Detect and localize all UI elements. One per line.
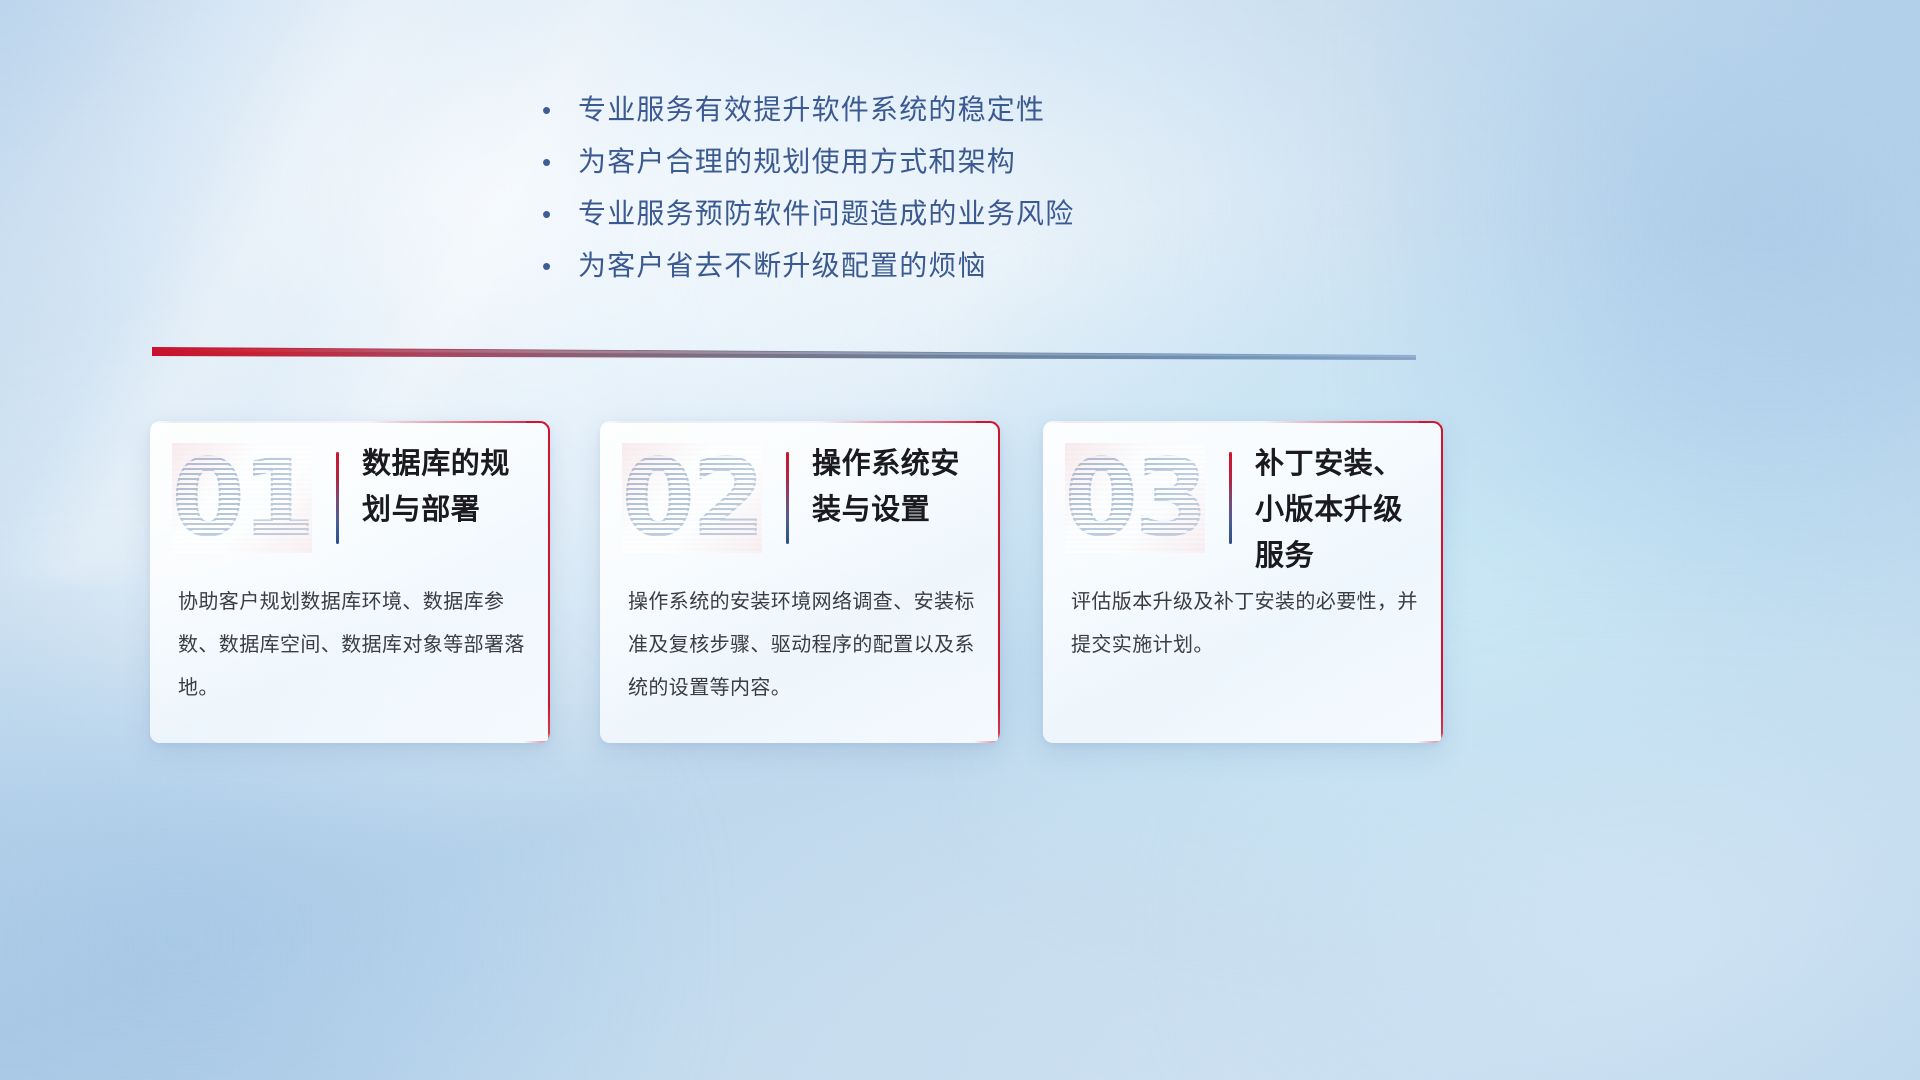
bullet-item: • 为客户合理的规划使用方式和架构 xyxy=(536,140,1296,192)
card-accent-top xyxy=(150,421,550,423)
card-accent-top xyxy=(600,421,1000,423)
card-title-divider-bar xyxy=(336,452,339,544)
benefits-bullet-list: • 专业服务有效提升软件系统的稳定性 • 为客户合理的规划使用方式和架构 • 专… xyxy=(536,88,1296,296)
card-title-divider-bar xyxy=(786,452,789,544)
card-accent-bottom xyxy=(974,741,1000,743)
card-title: 数据库的规划与部署 xyxy=(362,441,538,533)
card-accent-bottom xyxy=(524,741,550,743)
card-accent-top xyxy=(1043,421,1443,423)
bullet-dot-icon: • xyxy=(536,149,578,175)
bullet-item-label: 专业服务有效提升软件系统的稳定性 xyxy=(578,88,1045,128)
card-title: 补丁安装、小版本升级服务 xyxy=(1255,441,1431,579)
card-header: 03 补丁安装、小版本升级服务 xyxy=(1043,443,1443,561)
bullet-dot-icon: • xyxy=(536,97,578,123)
bullet-dot-icon: • xyxy=(536,201,578,227)
card-description: 评估版本升级及补丁安装的必要性，并提交实施计划。 xyxy=(1071,581,1423,667)
bullet-item-label: 为客户合理的规划使用方式和架构 xyxy=(578,140,1016,180)
slide-canvas: • 专业服务有效提升软件系统的稳定性 • 为客户合理的规划使用方式和架构 • 专… xyxy=(0,0,1920,1080)
section-divider xyxy=(152,347,1416,363)
service-card[interactable]: 02 操作系统安装与设置 操作系统的安装环境网络调查、安装标准及复核步骤、驱动程… xyxy=(600,421,1000,743)
card-number: 02 xyxy=(622,443,762,553)
card-number: 01 xyxy=(172,443,312,553)
card-header: 01 数据库的规划与部署 xyxy=(150,443,550,561)
card-title-divider-bar xyxy=(1229,452,1232,544)
card-number: 03 xyxy=(1065,443,1205,553)
service-card[interactable]: 03 补丁安装、小版本升级服务 评估版本升级及补丁安装的必要性，并提交实施计划。 xyxy=(1043,421,1443,743)
card-accent-bottom xyxy=(1417,741,1443,743)
bullet-dot-icon: • xyxy=(536,253,578,279)
bullet-item: • 专业服务有效提升软件系统的稳定性 xyxy=(536,88,1296,140)
bullet-item: • 专业服务预防软件问题造成的业务风险 xyxy=(536,192,1296,244)
service-card[interactable]: 01 数据库的规划与部署 协助客户规划数据库环境、数据库参数、数据库空间、数据库… xyxy=(150,421,550,743)
card-header: 02 操作系统安装与设置 xyxy=(600,443,1000,561)
card-description: 操作系统的安装环境网络调查、安装标准及复核步骤、驱动程序的配置以及系统的设置等内… xyxy=(628,581,980,710)
service-card-group: 01 数据库的规划与部署 协助客户规划数据库环境、数据库参数、数据库空间、数据库… xyxy=(150,421,1770,751)
bullet-item-label: 为客户省去不断升级配置的烦恼 xyxy=(578,244,987,284)
bullet-item-label: 专业服务预防软件问题造成的业务风险 xyxy=(578,192,1074,232)
bullet-item: • 为客户省去不断升级配置的烦恼 xyxy=(536,244,1296,296)
card-description: 协助客户规划数据库环境、数据库参数、数据库空间、数据库对象等部署落地。 xyxy=(178,581,530,710)
card-title: 操作系统安装与设置 xyxy=(812,441,988,533)
